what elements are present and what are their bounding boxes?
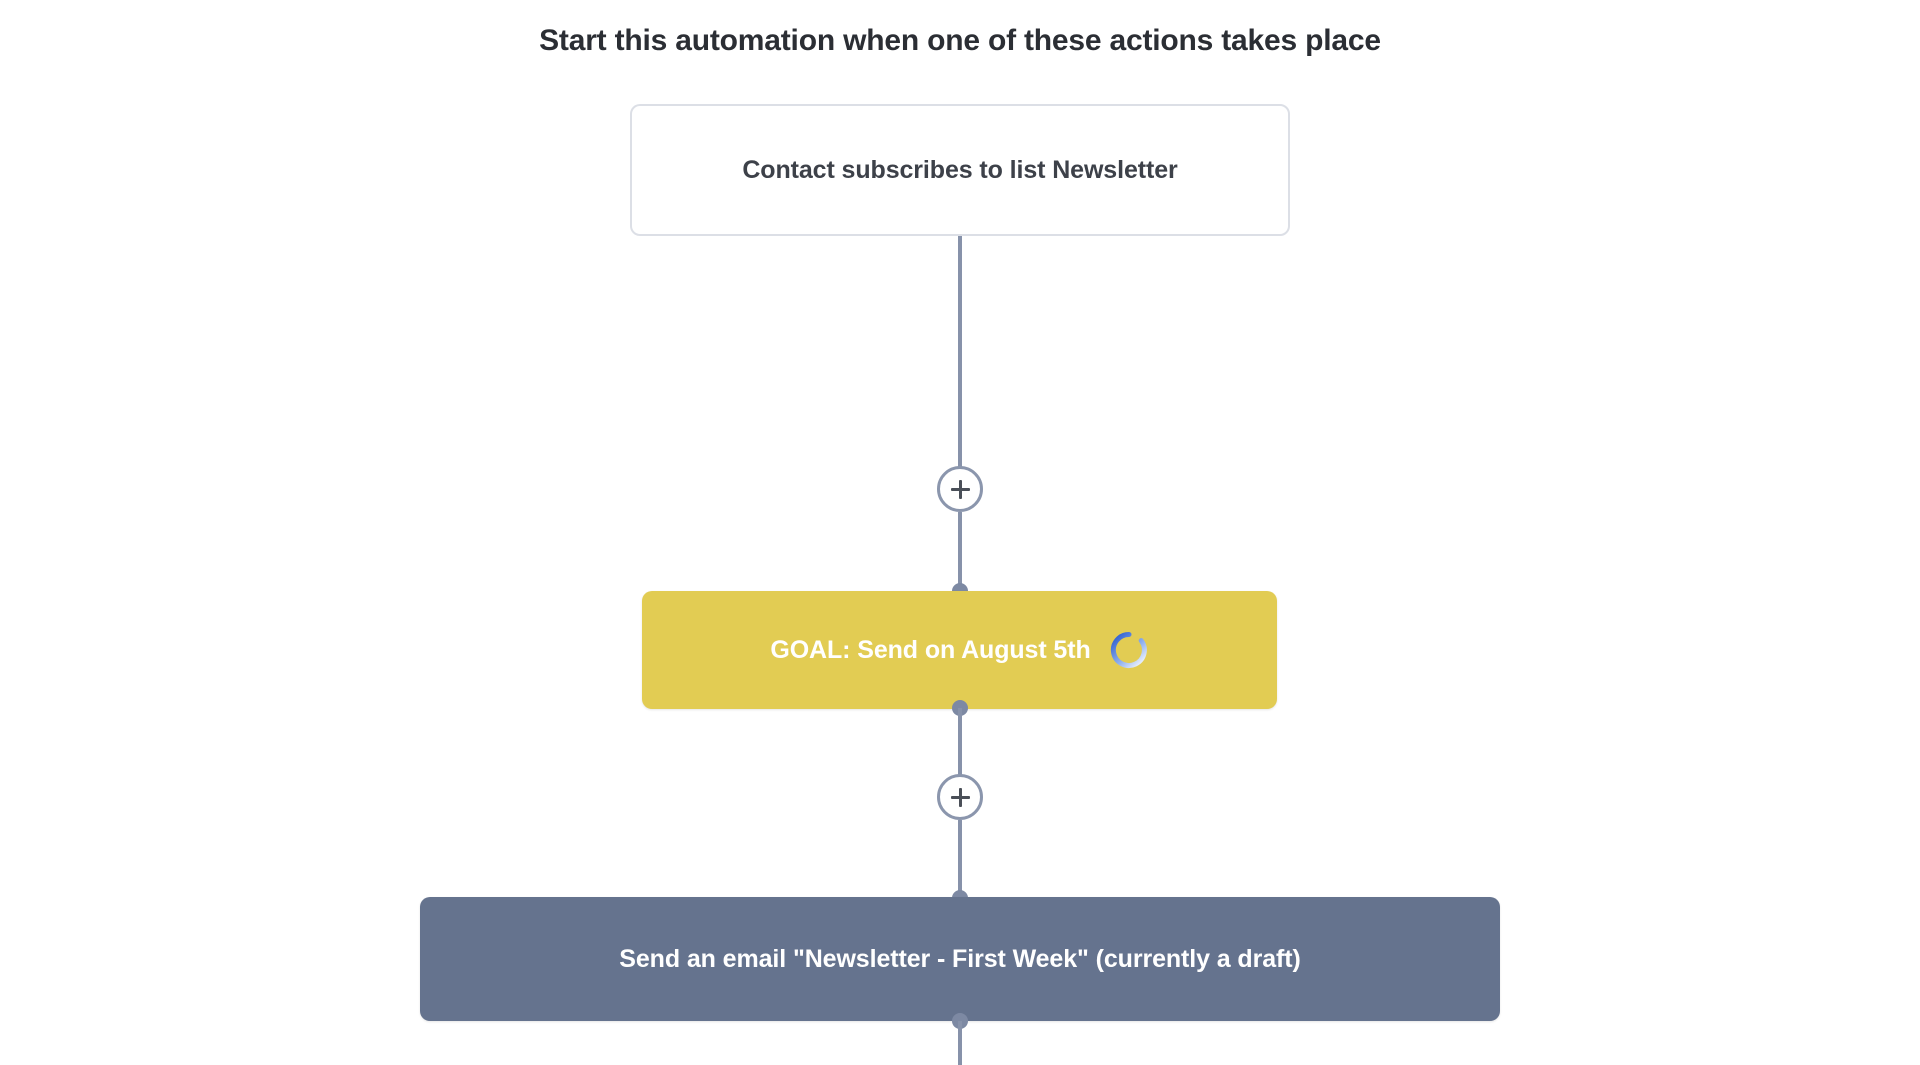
page-title: Start this automation when one of these … — [0, 24, 1920, 58]
connector-trigger-to-goal-upper — [958, 236, 962, 488]
flow-node-send-email[interactable]: Send an email "Newsletter - First Week" … — [420, 897, 1500, 1021]
loading-spinner-icon — [1109, 630, 1149, 670]
connector-goal-to-plus2 — [958, 708, 962, 776]
flow-node-goal-label: GOAL: Send on August 5th — [770, 636, 1090, 665]
flow-node-goal[interactable]: GOAL: Send on August 5th — [642, 591, 1277, 709]
automation-flow-canvas: Start this automation when one of these … — [0, 0, 1920, 1065]
flow-node-send-email-label: Send an email "Newsletter - First Week" … — [619, 945, 1300, 974]
flow-node-trigger[interactable]: Contact subscribes to list Newsletter — [630, 104, 1290, 236]
add-step-button-1[interactable] — [937, 466, 983, 512]
connector-email-to-next — [958, 1021, 962, 1065]
connector-plus2-to-email — [958, 820, 962, 898]
flow-node-trigger-label: Contact subscribes to list Newsletter — [742, 156, 1177, 185]
add-step-button-2[interactable] — [937, 774, 983, 820]
